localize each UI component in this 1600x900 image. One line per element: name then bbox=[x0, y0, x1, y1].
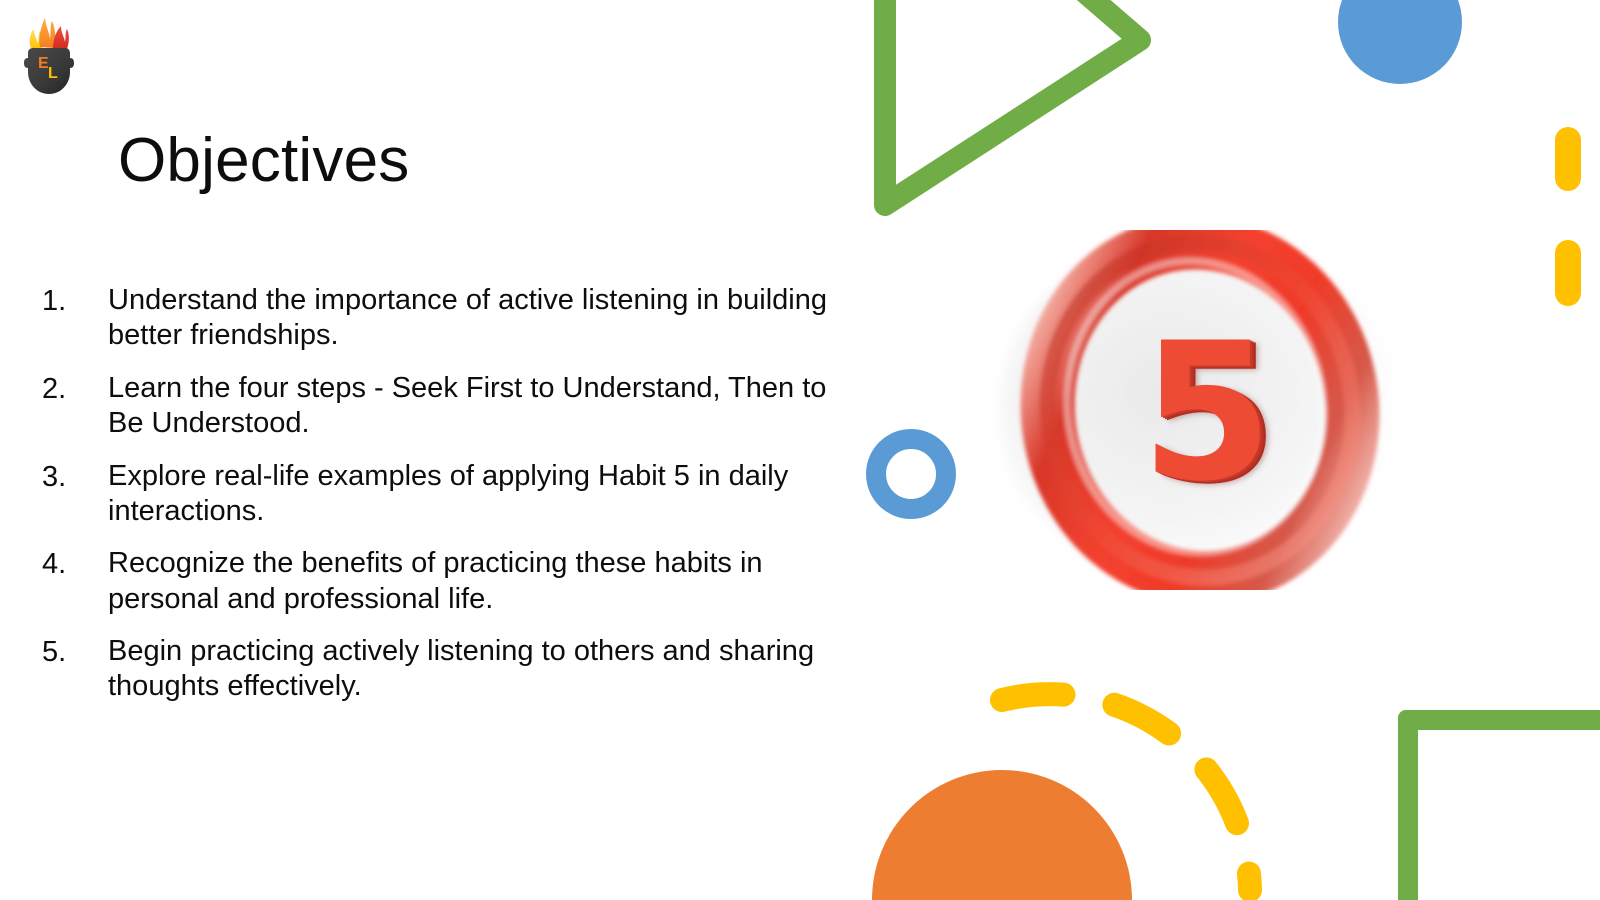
list-item-text: Explore real-life examples of applying H… bbox=[108, 459, 832, 530]
flame-orange bbox=[39, 18, 55, 48]
flame-red bbox=[53, 26, 69, 49]
el-flame-logo: E L bbox=[18, 6, 78, 98]
habit-badge-number: 5 bbox=[1000, 230, 1400, 590]
list-item-text: Learn the four steps - Seek First to Und… bbox=[108, 371, 832, 442]
ring-blue-decor bbox=[866, 429, 956, 519]
list-item: 5. Begin practicing actively listening t… bbox=[42, 634, 832, 705]
list-item-number: 1. bbox=[42, 283, 108, 319]
list-item-text: Understand the importance of active list… bbox=[108, 283, 832, 354]
red-ring-svg bbox=[1000, 230, 1400, 590]
list-item: 2. Learn the four steps - Seek First to … bbox=[42, 371, 832, 442]
habit-number-badge: 5 bbox=[1000, 230, 1400, 590]
bar-yellow-decor-1 bbox=[1555, 127, 1581, 191]
list-item: 1. Understand the importance of active l… bbox=[42, 283, 832, 354]
list-item-text: Begin practicing actively listening to o… bbox=[108, 634, 832, 705]
logo-letter-l: L bbox=[48, 65, 58, 82]
slide-canvas: E L Objectives 1. Understand the importa… bbox=[0, 0, 1600, 900]
list-item-text: Recognize the benefits of practicing the… bbox=[108, 546, 832, 617]
page-title: Objectives bbox=[118, 128, 409, 193]
circle-blue-decor bbox=[1338, 0, 1462, 84]
triangle-outline-icon bbox=[850, 0, 1170, 220]
list-item: 3. Explore real-life examples of applyin… bbox=[42, 459, 832, 530]
dashed-arc-svg bbox=[850, 640, 1310, 900]
objectives-list: 1. Understand the importance of active l… bbox=[42, 283, 832, 722]
badge-glow bbox=[1000, 230, 1400, 590]
list-item-number: 4. bbox=[42, 546, 108, 582]
list-item-number: 5. bbox=[42, 634, 108, 670]
el-flame-logo-svg: E L bbox=[18, 6, 78, 98]
list-item-number: 2. bbox=[42, 371, 108, 407]
list-item-number: 3. bbox=[42, 459, 108, 495]
circle-orange-decor bbox=[872, 770, 1132, 900]
dashed-arc-decor bbox=[850, 640, 1310, 900]
triangle-outline-svg bbox=[850, 0, 1170, 220]
list-item: 4. Recognize the benefits of practicing … bbox=[42, 546, 832, 617]
square-outline-green-decor bbox=[1398, 710, 1600, 900]
bar-yellow-decor-2 bbox=[1555, 240, 1581, 306]
